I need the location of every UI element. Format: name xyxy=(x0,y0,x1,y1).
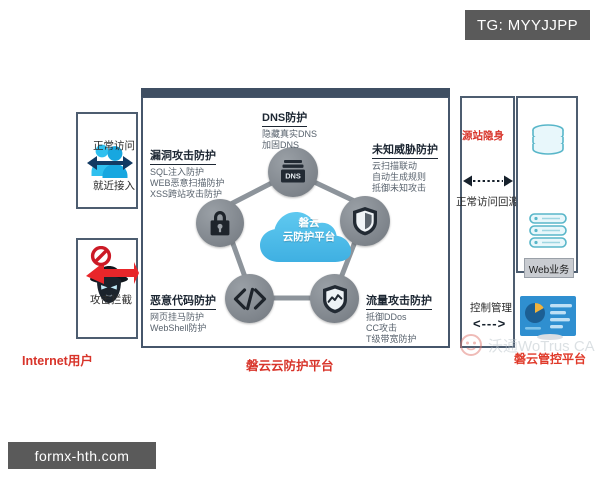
svg-text:DNS: DNS xyxy=(285,172,301,181)
diagram-canvas: 正常访问 就近接入 攻击拦截 Internet用户 xyxy=(0,0,600,480)
normal-access-top-label: 正常访问 xyxy=(93,138,135,153)
lock-node[interactable] xyxy=(196,199,244,247)
feature-vulnerability-item-0: SQL注入防护 xyxy=(150,167,225,178)
feature-dns-item-1: 加固DNS xyxy=(262,140,317,151)
feature-traffic-attack: 流量攻击防护 抵御DDos CC攻击 T级带宽防护 xyxy=(366,291,432,345)
web-business-tag: Web业务 xyxy=(524,258,574,278)
back-to-source-arrow xyxy=(461,172,515,190)
feature-malicious-code-item-1: WebShell防护 xyxy=(150,323,216,334)
feature-vulnerability-item-2: XSS跨站攻击防护 xyxy=(150,189,225,200)
feature-traffic-attack-item-0: 抵御DDos xyxy=(366,312,432,323)
feature-dns-item-0: 隐藏真实DNS xyxy=(262,129,317,140)
dns-node[interactable]: DNS xyxy=(268,147,318,197)
shield-node[interactable] xyxy=(340,196,390,246)
database-icon xyxy=(526,124,570,158)
normal-access-arrow xyxy=(85,152,135,174)
attack-block-arrow xyxy=(82,246,142,294)
feature-malicious-code-item-0: 网页挂马防护 xyxy=(150,312,216,323)
feature-dns: DNS防护 隐藏真实DNS 加固DNS xyxy=(262,108,317,151)
feature-traffic-attack-item-1: CC攻击 xyxy=(366,323,432,334)
platform-caption: 磐云云防护平台 xyxy=(246,355,334,374)
shield-icon xyxy=(351,206,379,236)
chart-shield-node[interactable] xyxy=(310,274,359,323)
feature-malicious-code-title: 恶意代码防护 xyxy=(150,292,216,310)
control-management-arrow: <---> xyxy=(473,316,506,331)
site-url-chip: formx-hth.com xyxy=(8,442,156,469)
internet-users-caption: Internet用户 xyxy=(22,350,93,369)
feature-unknown-threat-title: 未知威胁防护 xyxy=(372,141,438,159)
web-business-panel xyxy=(516,96,578,273)
console-caption: 磐云管控平台 xyxy=(514,350,586,367)
feature-traffic-attack-item-2: T级带宽防护 xyxy=(366,334,432,345)
code-tag-icon xyxy=(233,287,267,311)
control-management-label: 控制管理 xyxy=(470,300,512,315)
feature-unknown-threat-item-1: 自动生成规则 xyxy=(372,172,438,183)
lock-icon xyxy=(207,209,233,237)
feature-traffic-attack-title: 流量攻击防护 xyxy=(366,292,432,310)
feature-unknown-threat: 未知威胁防护 云扫描联动 自动生成规则 抵御未知攻击 xyxy=(372,140,438,194)
origin-hidden-label: 源站隐身 xyxy=(462,128,504,143)
feature-dns-title: DNS防护 xyxy=(262,109,307,127)
tg-tag-chip: TG: MYYJJPP xyxy=(465,10,590,40)
feature-unknown-threat-item-2: 抵御未知攻击 xyxy=(372,183,438,194)
feature-vulnerability-title: 漏洞攻击防护 xyxy=(150,147,216,165)
back-to-source-label: 正常访问回源 xyxy=(456,194,519,209)
attack-block-label: 攻击拦截 xyxy=(90,292,132,307)
feature-malicious-code: 恶意代码防护 网页挂马防护 WebShell防护 xyxy=(150,291,216,334)
feature-vulnerability-item-1: WEB恶意扫描防护 xyxy=(150,178,225,189)
feature-vulnerability: 漏洞攻击防护 SQL注入防护 WEB恶意扫描防护 XSS跨站攻击防护 xyxy=(150,146,225,200)
dns-server-icon: DNS xyxy=(278,157,308,187)
code-node[interactable] xyxy=(225,274,274,323)
server-rack-icon xyxy=(526,212,570,250)
traffic-shield-icon xyxy=(321,284,349,314)
normal-access-bottom-label: 就近接入 xyxy=(93,178,135,193)
feature-unknown-threat-item-0: 云扫描联动 xyxy=(372,161,438,172)
